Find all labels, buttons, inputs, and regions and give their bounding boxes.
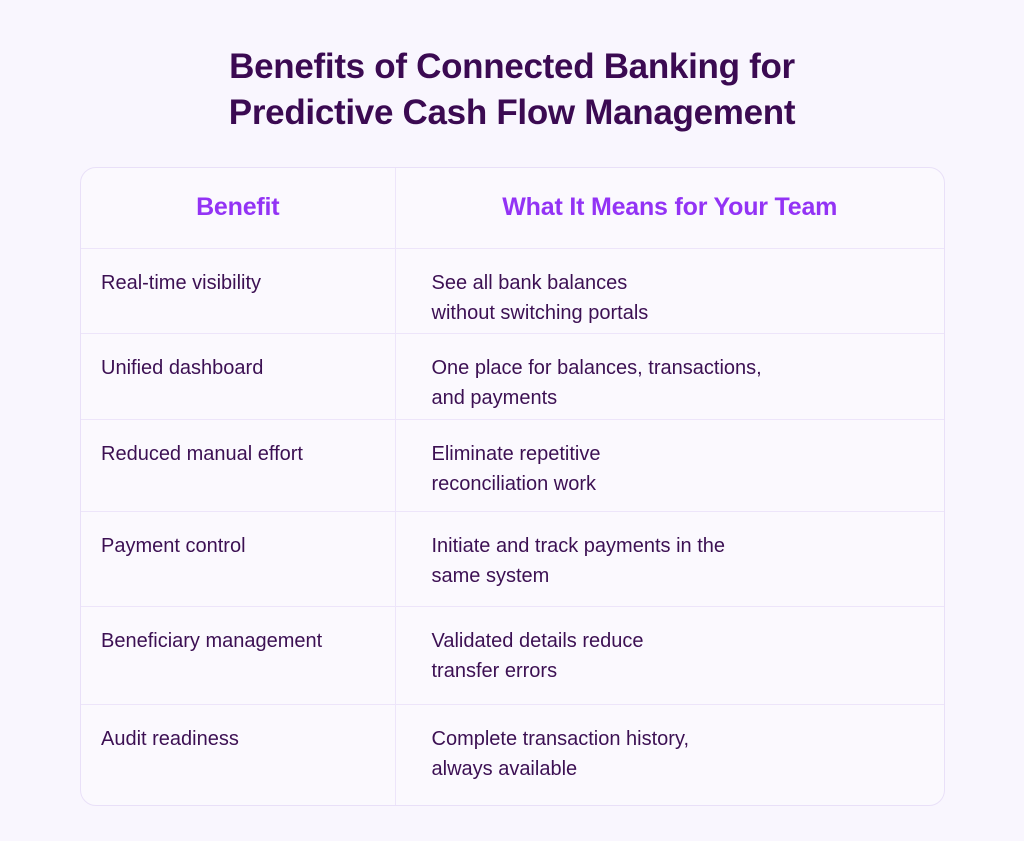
cell-meaning-line: reconciliation work [432, 469, 927, 499]
cell-benefit: Unified dashboard [81, 333, 395, 419]
cell-benefit: Payment control [81, 511, 395, 606]
table-row: Reduced manual effort Eliminate repetiti… [81, 419, 944, 511]
page-title: Benefits of Connected Banking for Predic… [0, 44, 1024, 136]
table-body: Real-time visibility See all bank balanc… [81, 248, 944, 806]
cell-meaning-line: Initiate and track payments in the [432, 531, 927, 561]
page-title-line-1: Benefits of Connected Banking for [0, 44, 1024, 90]
cell-meaning: See all bank balances without switching … [395, 248, 944, 333]
table-row: Beneficiary management Validated details… [81, 606, 944, 704]
cell-meaning-line: Eliminate repetitive [432, 439, 927, 469]
column-header-benefit: Benefit [81, 168, 395, 248]
table-row: Audit readiness Complete transaction his… [81, 704, 944, 806]
table-row: Unified dashboard One place for balances… [81, 333, 944, 419]
table-header: Benefit What It Means for Your Team [81, 168, 944, 248]
cell-meaning-line: See all bank balances [432, 268, 927, 298]
cell-meaning-line: same system [432, 561, 927, 591]
cell-meaning-line: and payments [432, 383, 927, 413]
cell-meaning-line: without switching portals [432, 298, 927, 328]
page-root: Benefits of Connected Banking for Predic… [0, 0, 1024, 841]
cell-meaning: Eliminate repetitive reconciliation work [395, 419, 944, 511]
cell-meaning-line: Complete transaction history, [432, 724, 927, 754]
cell-meaning-line: Validated details reduce [432, 626, 927, 656]
cell-benefit: Real-time visibility [81, 248, 395, 333]
cell-benefit: Beneficiary management [81, 606, 395, 704]
benefits-table: Benefit What It Means for Your Team Real… [81, 168, 944, 806]
cell-benefit: Audit readiness [81, 704, 395, 806]
cell-meaning: Initiate and track payments in the same … [395, 511, 944, 606]
table-row: Real-time visibility See all bank balanc… [81, 248, 944, 333]
cell-meaning: Complete transaction history, always ava… [395, 704, 944, 806]
page-title-line-2: Predictive Cash Flow Management [0, 90, 1024, 136]
cell-meaning-line: transfer errors [432, 656, 927, 686]
table-header-row: Benefit What It Means for Your Team [81, 168, 944, 248]
cell-benefit: Reduced manual effort [81, 419, 395, 511]
column-header-meaning: What It Means for Your Team [395, 168, 944, 248]
cell-meaning-line: One place for balances, transactions, [432, 353, 927, 383]
cell-meaning: One place for balances, transactions, an… [395, 333, 944, 419]
benefits-table-card: Benefit What It Means for Your Team Real… [80, 167, 945, 806]
cell-meaning: Validated details reduce transfer errors [395, 606, 944, 704]
table-row: Payment control Initiate and track payme… [81, 511, 944, 606]
cell-meaning-line: always available [432, 754, 927, 784]
